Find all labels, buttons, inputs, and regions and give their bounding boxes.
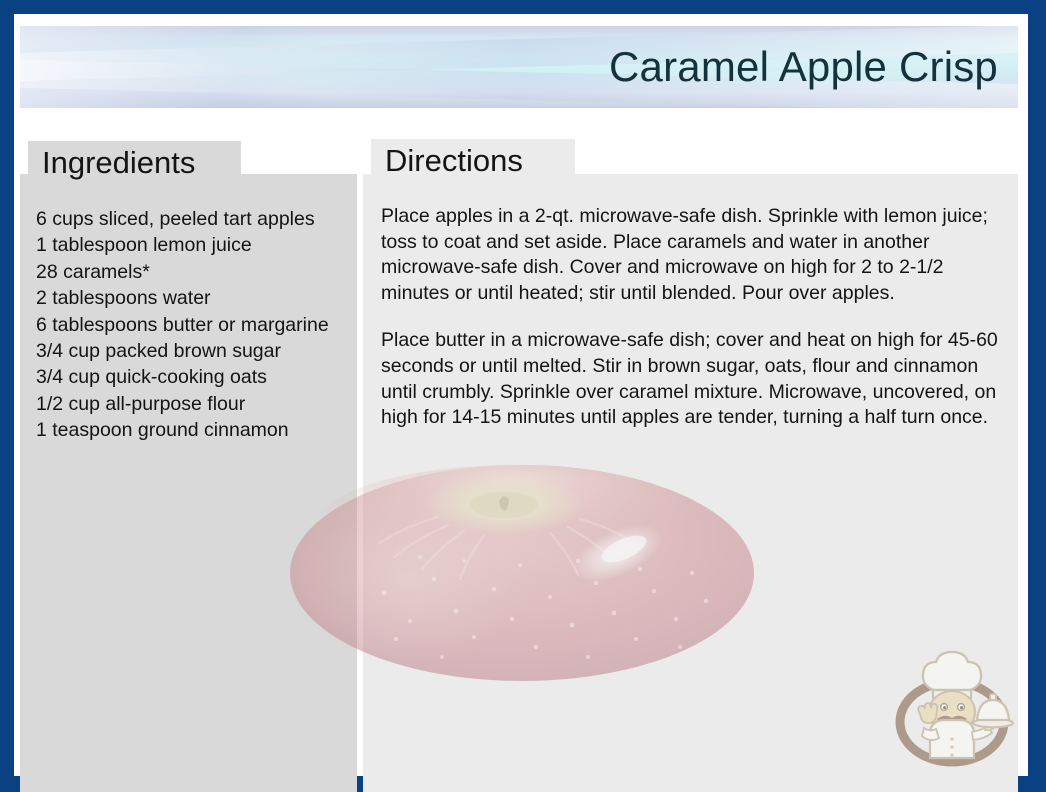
list-item: 2 tablespoons water <box>36 285 366 311</box>
directions-paragraph: Place apples in a 2-qt. microwave-safe d… <box>381 204 1009 306</box>
directions-paragraph: Place butter in a microwave-safe dish; c… <box>381 328 1009 430</box>
list-item: 6 cups sliced, peeled tart apples <box>36 206 366 232</box>
list-item: 3/4 cup packed brown sugar <box>36 338 366 364</box>
list-item: 28 caramels* <box>36 259 366 285</box>
list-item: 1 teaspoon ground cinnamon <box>36 417 366 443</box>
title-banner: Caramel Apple Crisp <box>20 26 1018 108</box>
directions-body: Place apples in a 2-qt. microwave-safe d… <box>381 204 1009 431</box>
ingredients-heading: Ingredients <box>28 141 241 185</box>
ingredients-list: 6 cups sliced, peeled tart apples 1 tabl… <box>36 206 366 444</box>
page-title: Caramel Apple Crisp <box>609 43 998 91</box>
directions-heading: Directions <box>371 139 575 183</box>
chef-logo-icon <box>890 644 1014 768</box>
recipe-card: Caramel Apple Crisp Ingredients Directio… <box>0 0 1046 792</box>
list-item: 3/4 cup quick-cooking oats <box>36 364 366 390</box>
list-item: 1/2 cup all-purpose flour <box>36 391 366 417</box>
list-item: 6 tablespoons butter or margarine <box>36 312 366 338</box>
list-item: 1 tablespoon lemon juice <box>36 232 366 258</box>
